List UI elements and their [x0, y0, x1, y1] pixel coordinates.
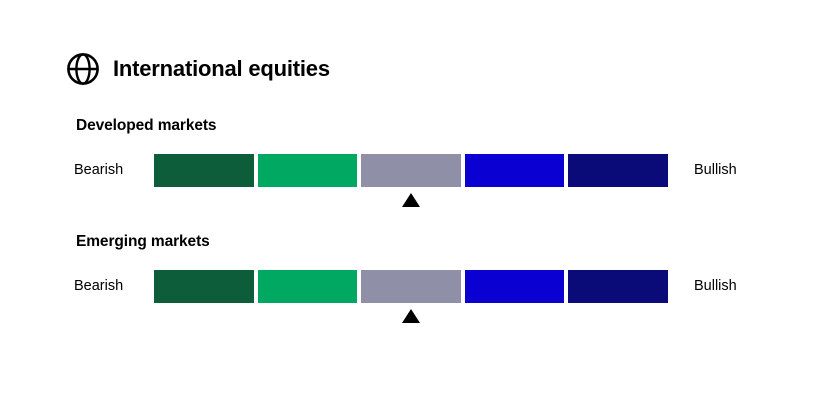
- sentiment-scale-developed: Bearish Bullish: [0, 154, 820, 194]
- scale-label-bullish-emerging: Bullish: [694, 270, 737, 303]
- sentiment-scale-emerging: Bearish Bullish: [0, 270, 820, 310]
- segment-5-very-bullish[interactable]: [568, 154, 668, 187]
- segment-4-bullish[interactable]: [465, 154, 565, 187]
- segment-3-neutral[interactable]: [361, 270, 461, 303]
- position-marker-developed: [402, 193, 420, 207]
- page-title: International equities: [113, 58, 330, 80]
- sentiment-bar-emerging: [154, 270, 668, 303]
- section-title-developed: Developed markets: [76, 118, 216, 134]
- marker-track-developed: [154, 193, 668, 209]
- segment-1-very-bearish[interactable]: [154, 154, 254, 187]
- chart-canvas: International equities Developed markets…: [0, 0, 820, 400]
- scale-label-bearish-developed: Bearish: [74, 154, 123, 187]
- sentiment-bar-developed: [154, 154, 668, 187]
- position-marker-emerging: [402, 309, 420, 323]
- scale-label-bearish-emerging: Bearish: [74, 270, 123, 303]
- segment-4-bullish[interactable]: [465, 270, 565, 303]
- globe-icon: [66, 52, 100, 86]
- segment-2-bearish[interactable]: [258, 154, 358, 187]
- chart-header: International equities: [66, 52, 330, 86]
- marker-track-emerging: [154, 309, 668, 325]
- segment-3-neutral[interactable]: [361, 154, 461, 187]
- scale-label-bullish-developed: Bullish: [694, 154, 737, 187]
- segment-2-bearish[interactable]: [258, 270, 358, 303]
- segment-1-very-bearish[interactable]: [154, 270, 254, 303]
- section-title-emerging: Emerging markets: [76, 234, 210, 250]
- segment-5-very-bullish[interactable]: [568, 270, 668, 303]
